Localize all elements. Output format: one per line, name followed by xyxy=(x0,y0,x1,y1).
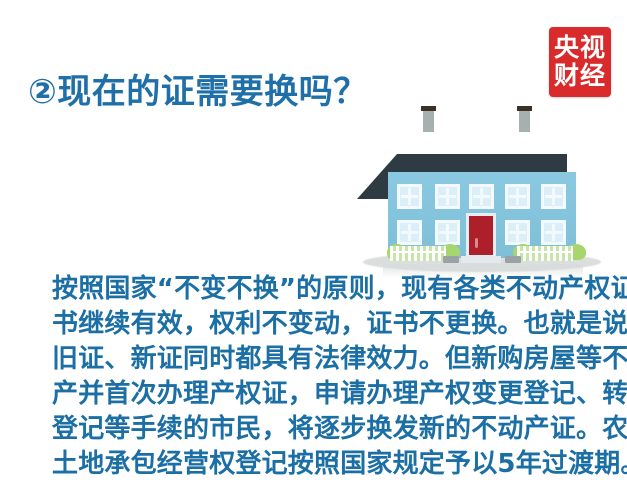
door-stoop xyxy=(461,256,501,263)
logo-line-bottom: 财经 xyxy=(554,62,606,90)
window-lower-2 xyxy=(435,220,460,245)
front-door xyxy=(466,213,496,258)
roof xyxy=(357,126,607,176)
window-upper-5 xyxy=(541,184,566,209)
body-paragraph: 按照国家“不变不换”的原则，现有各类不动产权证 书继续有效，权利不变动，证书不更… xyxy=(52,272,592,482)
door-knob-icon xyxy=(475,238,478,248)
planter-right xyxy=(505,256,521,263)
window-lower-1 xyxy=(397,220,422,245)
body-line: 旧证、新证同时都具有法律效力。但新购房屋等不动 xyxy=(52,342,592,377)
fence-left xyxy=(390,246,446,261)
poster-canvas: 央视 财经 ②现在的证需要换吗？ xyxy=(0,0,627,499)
body-line: 书继续有效，权利不变动，证书不更换。也就是说， xyxy=(52,307,592,342)
planter-left xyxy=(443,256,459,263)
body-line: 土地承包经营权登记按照国家规定予以5年过渡期。 xyxy=(52,447,592,482)
window-lower-4 xyxy=(541,220,566,245)
page-title: ②现在的证需要换吗？ xyxy=(28,64,368,113)
window-lower-3 xyxy=(505,220,530,245)
body-line: 登记等手续的市民，将逐步换发新的不动产证。农村 xyxy=(52,412,592,447)
window-upper-2 xyxy=(435,184,460,209)
body-line: 按照国家“不变不换”的原则，现有各类不动产权证 xyxy=(52,272,592,307)
window-upper-3 xyxy=(469,184,494,209)
window-upper-4 xyxy=(505,184,530,209)
roof-ridge xyxy=(409,154,555,160)
logo-line-top: 央视 xyxy=(554,34,606,62)
window-upper-1 xyxy=(397,184,422,209)
cctv-finance-logo: 央视 财经 xyxy=(549,27,611,97)
house-illustration xyxy=(357,100,607,278)
fence-right xyxy=(517,246,573,261)
body-line: 产并首次办理产权证，申请办理产权变更登记、转移 xyxy=(52,377,592,412)
